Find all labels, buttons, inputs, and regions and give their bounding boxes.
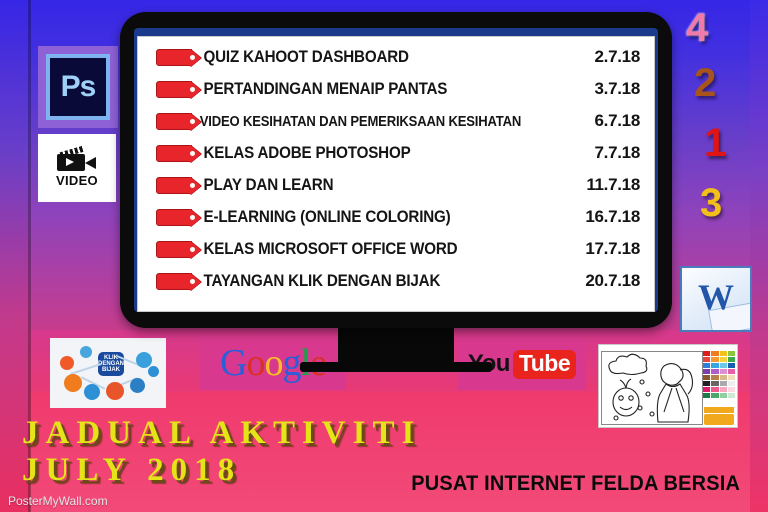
coloring-canvas [601,351,703,425]
schedule-row-date: 17.7.18 [584,239,640,259]
schedule-row: KELAS ADOBE PHOTOSHOP7.7.18 [138,137,654,169]
tag-icon [156,81,192,98]
tag-icon [156,49,192,66]
schedule-row-date: 16.7.18 [584,207,640,227]
right-color-band [750,0,768,512]
decorative-number-2: 2 [694,63,716,103]
network-node [106,382,124,400]
schedule-row-title: TAYANGAN KLIK DENGAN BIJAK [198,272,553,291]
schedule-row-date: 7.7.18 [584,143,640,163]
microsoft-word-icon: W [680,266,752,332]
tag-icon [156,273,192,290]
youtube-logo-tube: Tube [513,350,576,379]
network-link [70,363,101,375]
klik-dengan-bijak-icon: KLIK DENGAN BIJAK [50,338,166,408]
page-title: JADUAL AKTIVITI JULY 2018 [22,416,421,487]
google-letter-o1: o [247,341,265,385]
screen-bezel: QUIZ KAHOOT DASHBOARD2.7.18PERTANDINGAN … [134,28,658,312]
camera-lens-shape [85,157,96,169]
schedule-row-date: 2.7.18 [584,47,640,67]
video-icon-label: VIDEO [56,173,98,188]
schedule-row: KELAS MICROSOFT OFFICE WORD17.7.18 [138,233,654,265]
microsoft-word-icon-label: W [698,279,734,315]
schedule-row-date: 3.7.18 [584,79,640,99]
screen-content: QUIZ KAHOOT DASHBOARD2.7.18PERTANDINGAN … [137,36,655,312]
tag-icon [156,209,192,226]
watermark: PosterMyWall.com [8,494,108,508]
network-node [64,374,82,392]
monitor-frame: QUIZ KAHOOT DASHBOARD2.7.18PERTANDINGAN … [120,12,672,328]
google-letter-o2: o [265,341,283,385]
coloring-site-logo [704,414,734,425]
network-node [148,366,159,377]
schedule-row-title: VIDEO KESIHATAN DAN PEMERIKSAAN KESIHATA… [198,113,530,130]
tag-icon [156,177,192,194]
decorative-number-4: 4 [686,8,708,48]
online-coloring-icon [598,344,738,428]
network-node [136,352,152,368]
decorative-number-1: 1 [704,123,726,163]
network-node [130,378,145,393]
network-node [80,346,92,358]
video-camera-glyph [57,149,97,171]
play-triangle-icon [66,158,74,166]
poster-canvas: Ps VIDEO QUIZ KAHOOT DASHBOARD2.7.18PERT… [0,0,768,512]
schedule-row-title: PERTANDINGAN MENAIP PANTAS [198,80,553,99]
tag-icon [156,145,192,162]
coloring-lineart [602,352,702,424]
video-camera-icon: VIDEO [38,134,116,202]
schedule-row-title: KELAS ADOBE PHOTOSHOP [198,144,553,163]
schedule-row-title: QUIZ KAHOOT DASHBOARD [198,48,553,67]
monitor-stand-base [300,362,492,372]
schedule-row: PERTANDINGAN MENAIP PANTAS3.7.18 [138,73,654,105]
schedule-row: QUIZ KAHOOT DASHBOARD2.7.18 [138,41,654,73]
google-letter-g2: g [283,341,301,385]
photoshop-icon-inner: Ps [46,54,110,120]
schedule-row-title: E-LEARNING (ONLINE COLORING) [198,208,553,227]
schedule-list: QUIZ KAHOOT DASHBOARD2.7.18PERTANDINGAN … [138,41,654,297]
schedule-row: PLAY DAN LEARN11.7.18 [138,169,654,201]
schedule-row-date: 20.7.18 [584,271,640,291]
decorative-number-3: 3 [700,183,722,223]
photoshop-icon-label: Ps [61,70,96,104]
google-letter-g: G [220,341,246,385]
schedule-row: TAYANGAN KLIK DENGAN BIJAK20.7.18 [138,265,654,297]
network-node [60,356,74,370]
schedule-row: VIDEO KESIHATAN DAN PEMERIKSAAN KESIHATA… [138,105,654,137]
network-node [84,384,100,400]
photoshop-icon: Ps [38,46,118,128]
tag-icon [156,113,192,130]
schedule-row: E-LEARNING (ONLINE COLORING)16.7.18 [138,201,654,233]
organization-name: PUSAT INTERNET FELDA BERSIA [411,472,740,496]
coloring-print-button[interactable] [704,407,734,413]
page-title-line2: JULY 2018 [22,453,421,487]
tag-icon [156,241,192,258]
color-palette-grid[interactable] [703,351,735,407]
schedule-row-title: PLAY DAN LEARN [198,176,553,195]
schedule-row-date: 11.7.18 [584,175,640,195]
schedule-row-title: KELAS MICROSOFT OFFICE WORD [198,240,553,259]
schedule-row-date: 6.7.18 [584,111,640,131]
page-title-line1: JADUAL AKTIVITI [22,415,421,451]
